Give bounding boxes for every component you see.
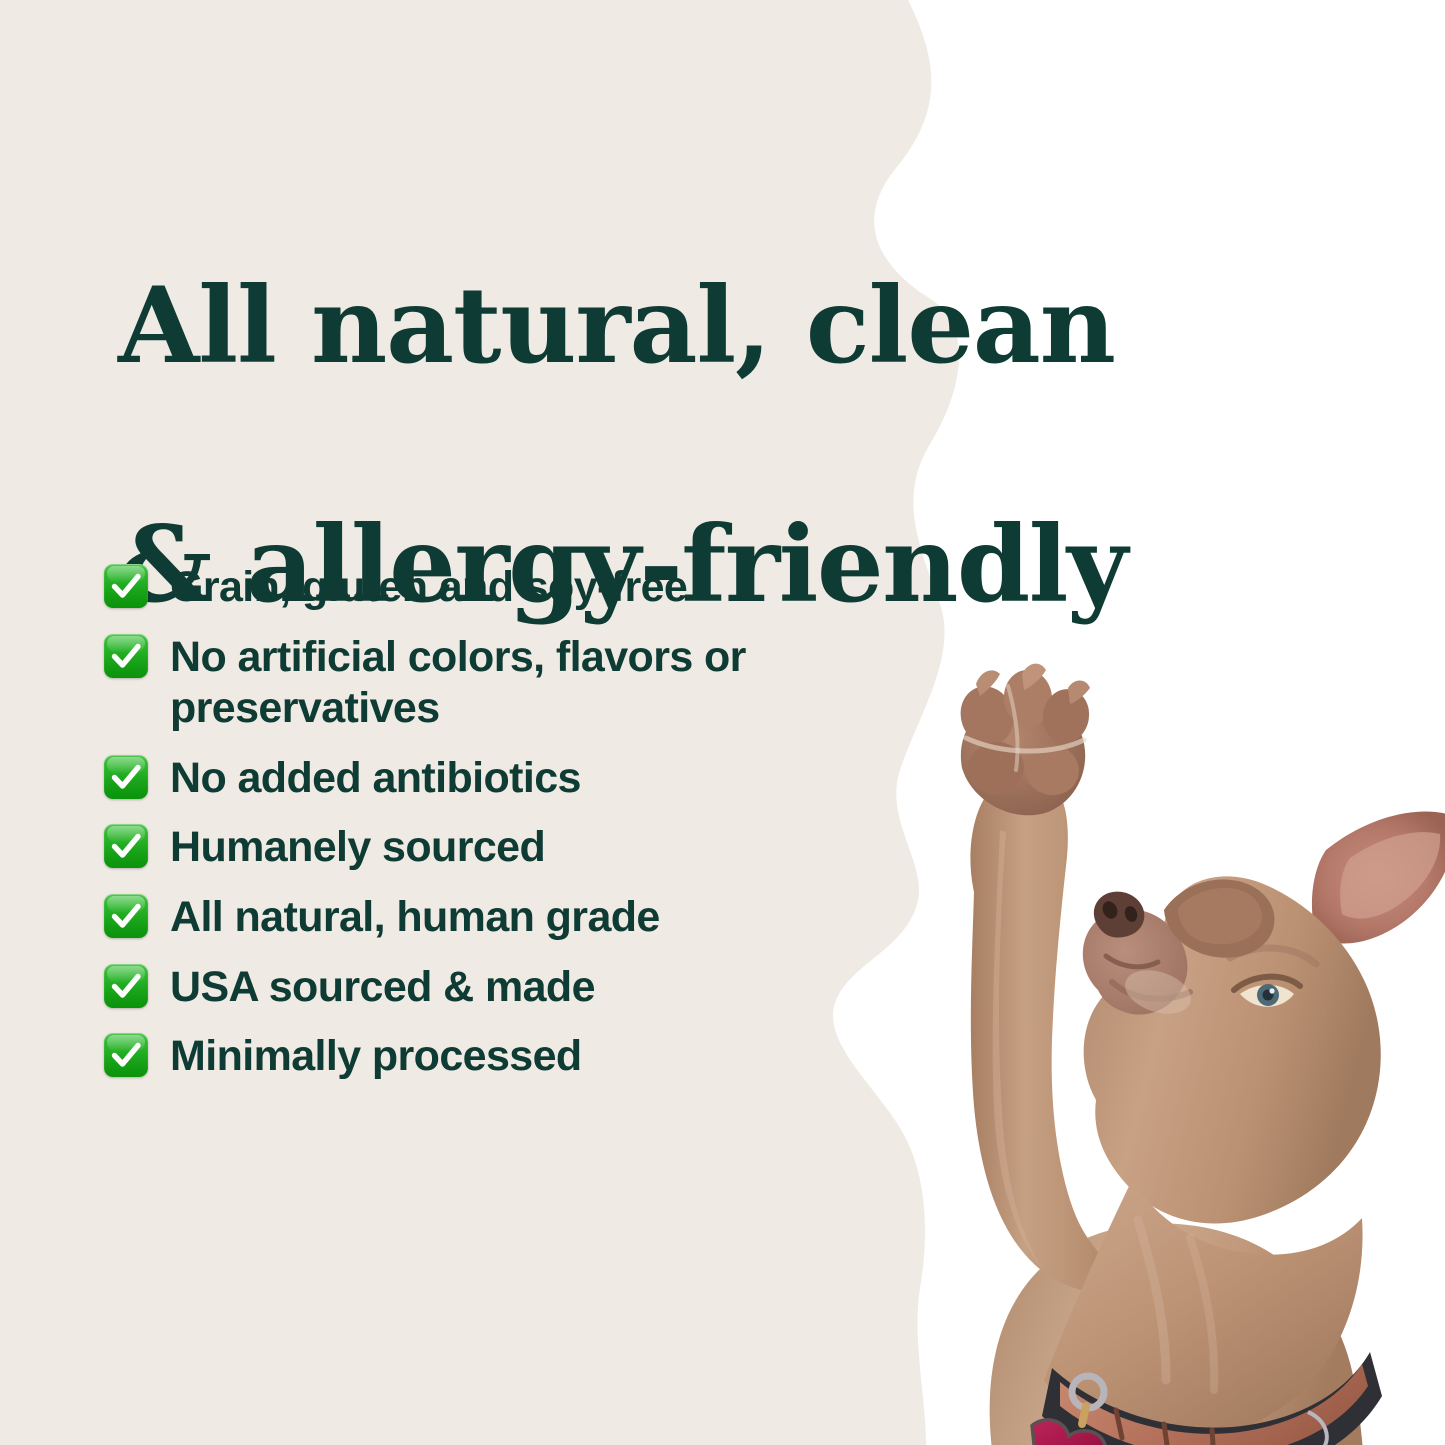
check-mark-button-icon — [104, 824, 148, 868]
list-item-minimally-processed: Minimally processed — [104, 1029, 914, 1083]
list-item-usa-sourced-made: USA sourced & made — [104, 960, 914, 1014]
list-item-label: Grain, gluten and soy-free — [170, 560, 687, 614]
list-item-label: Minimally processed — [170, 1029, 582, 1083]
promo-poster: MIA All natural, clean & allergy-friendl… — [0, 0, 1445, 1445]
check-mark-button-icon — [104, 634, 148, 678]
benefits-checklist: Grain, gluten and soy-free No artificial… — [104, 560, 914, 1083]
list-item-label: All natural, human grade — [170, 890, 660, 944]
list-item-no-added-antibiotics: No added antibiotics — [104, 751, 914, 805]
list-item-label: Humanely sourced — [170, 820, 545, 874]
list-item-humanely-sourced: Humanely sourced — [104, 820, 914, 874]
list-item-grain-gluten-soy-free: Grain, gluten and soy-free — [104, 560, 914, 614]
check-mark-button-icon — [104, 755, 148, 799]
list-item-all-natural-human-grade: All natural, human grade — [104, 890, 914, 944]
check-mark-button-icon — [104, 1033, 148, 1077]
headline-line-1: All natural, clean — [118, 266, 1348, 386]
list-item-label: No added antibiotics — [170, 751, 581, 805]
list-item-no-artificial: No artificial colors, flavors or preserv… — [104, 630, 914, 735]
check-mark-button-icon — [104, 564, 148, 608]
check-mark-button-icon — [104, 894, 148, 938]
list-item-label: No artificial colors, flavors or preserv… — [170, 630, 914, 735]
check-mark-button-icon — [104, 964, 148, 1008]
list-item-label: USA sourced & made — [170, 960, 595, 1014]
